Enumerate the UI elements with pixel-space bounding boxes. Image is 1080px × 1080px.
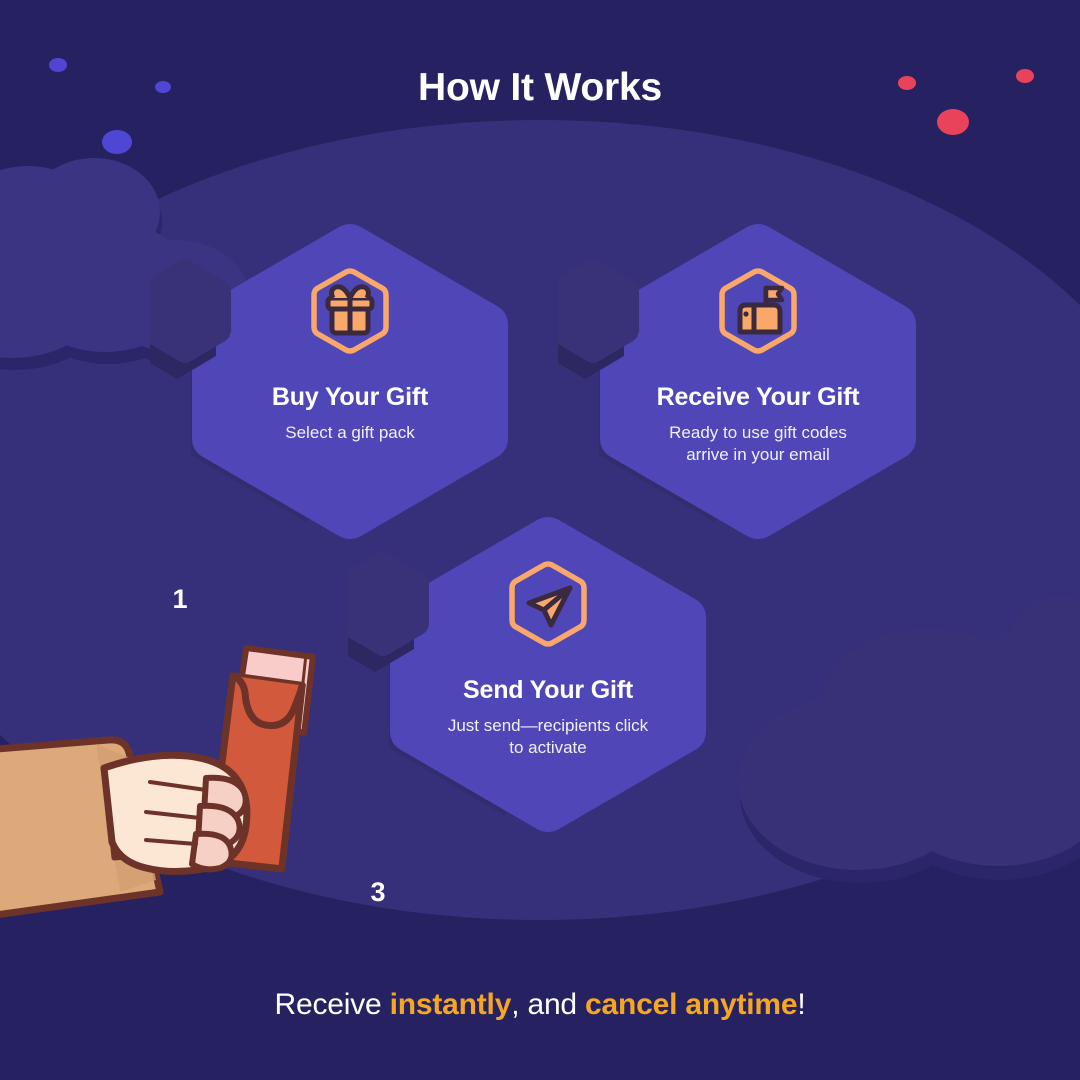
step-card-1[interactable]: 1 Buy Your Gift Select a gift pack — [150, 215, 550, 545]
page-title: How It Works — [0, 66, 1080, 110]
step-card-2[interactable]: 2 Receive Your Gift Ready to use gift co… — [558, 215, 958, 545]
footer-highlight-2: cancel anytime — [585, 988, 797, 1021]
footer-part-2: , and — [511, 988, 585, 1021]
footer-part-3: ! — [797, 988, 805, 1021]
footer-highlight-1: instantly — [390, 988, 512, 1021]
step-number-3: 3 — [332, 879, 424, 906]
footer-tagline: Receive instantly, and cancel anytime! — [0, 988, 1080, 1022]
step-number-1: 1 — [134, 586, 226, 613]
step-card-3[interactable]: 3 Send Your Gift Just send—recipients cl… — [348, 508, 748, 838]
infographic-root: How It Works — [0, 0, 1080, 1080]
footer-part-1: Receive — [275, 988, 390, 1021]
